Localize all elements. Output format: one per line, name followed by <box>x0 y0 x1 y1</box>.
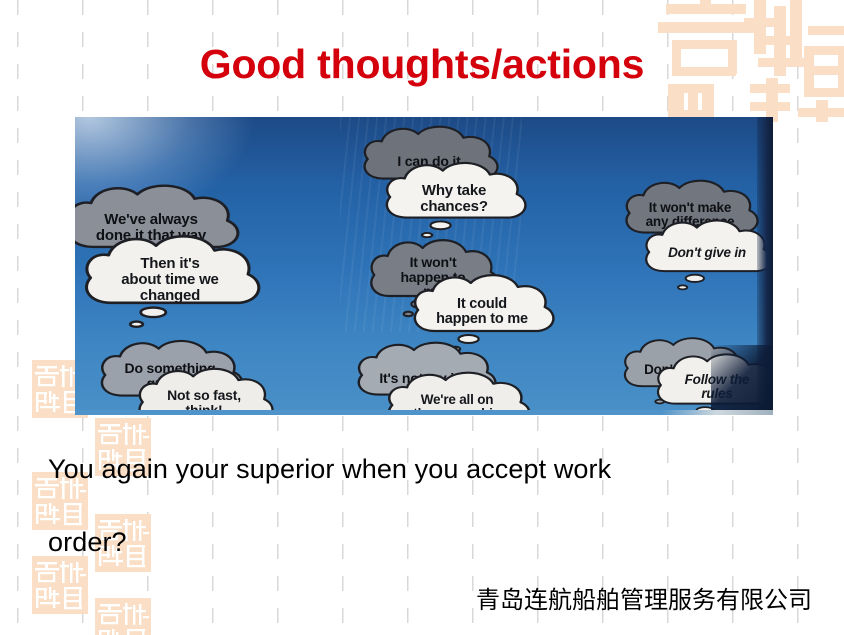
photo-bottom-right-corner <box>711 345 773 415</box>
page-title: Good thoughts/actions <box>0 44 844 85</box>
slide-canvas: Good thoughts/actions We've alwaysdone i… <box>0 0 844 635</box>
thought-cloud: Not so fast,think! <box>133 363 275 415</box>
footer-company-name: 青岛连航船舶管理服务有限公司 <box>0 580 812 615</box>
thought-cloud: Don't give in <box>640 215 773 291</box>
thought-bubbles-sky-photo: We've alwaysdone it that way Then it'sab… <box>75 117 773 415</box>
thought-cloud: We're all onthe same ship <box>382 367 532 415</box>
thought-cloud: Then it'sabout time wechanged <box>78 229 262 329</box>
photo-bottom-edge <box>75 410 773 415</box>
body-text-line-2: order? <box>48 527 127 558</box>
thought-cloud: Why takechances? <box>380 157 528 239</box>
body-text-line-1: You again your superior when you accept … <box>48 454 611 485</box>
